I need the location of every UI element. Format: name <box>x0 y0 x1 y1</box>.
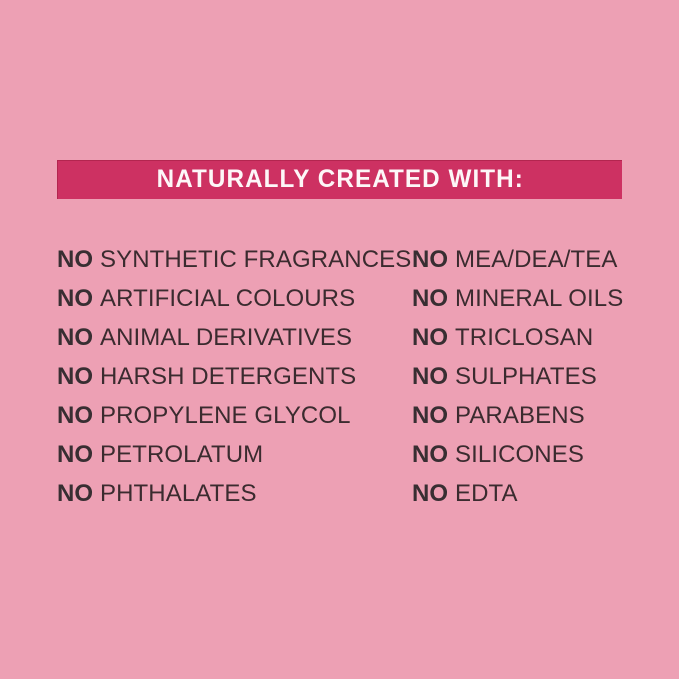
no-prefix: NO <box>412 287 448 311</box>
ingredient-label: SILICONES <box>455 443 584 467</box>
no-prefix: NO <box>412 443 448 467</box>
no-prefix: NO <box>57 482 93 506</box>
ingredients-column-left: NO SYNTHETIC FRAGRANCES NO ARTIFICIAL CO… <box>57 240 412 513</box>
ingredient-label: TRICLOSAN <box>455 326 593 350</box>
ingredient-label: PHTHALATES <box>100 482 257 506</box>
ingredient-label: MINERAL OILS <box>455 287 623 311</box>
no-prefix: NO <box>412 326 448 350</box>
ingredients-column-right: NO MEA/DEA/TEA NO MINERAL OILS NO TRICLO… <box>412 240 627 513</box>
list-item: NO ANIMAL DERIVATIVES <box>57 318 412 357</box>
no-prefix: NO <box>57 326 93 350</box>
ingredient-label: PETROLATUM <box>100 443 263 467</box>
ingredient-label: ANIMAL DERIVATIVES <box>100 326 352 350</box>
list-item: NO HARSH DETERGENTS <box>57 357 412 396</box>
no-prefix: NO <box>412 482 448 506</box>
no-prefix: NO <box>57 404 93 428</box>
ingredient-label: MEA/DEA/TEA <box>455 248 617 272</box>
no-prefix: NO <box>412 404 448 428</box>
ingredient-label: SYNTHETIC FRAGRANCES <box>100 248 411 272</box>
list-item: NO PHTHALATES <box>57 474 412 513</box>
no-prefix: NO <box>57 443 93 467</box>
ingredient-label: PARABENS <box>455 404 585 428</box>
list-item: NO PROPYLENE GLYCOL <box>57 396 412 435</box>
list-item: NO SULPHATES <box>412 357 627 396</box>
no-prefix: NO <box>412 365 448 389</box>
no-prefix: NO <box>412 248 448 272</box>
list-item: NO EDTA <box>412 474 627 513</box>
list-item: NO TRICLOSAN <box>412 318 627 357</box>
ingredient-label: ARTIFICIAL COLOURS <box>100 287 355 311</box>
list-item: NO MINERAL OILS <box>412 279 627 318</box>
list-item: NO PETROLATUM <box>57 435 412 474</box>
list-item: NO ARTIFICIAL COLOURS <box>57 279 412 318</box>
list-item: NO SILICONES <box>412 435 627 474</box>
banner-title: NATURALLY CREATED WITH: <box>156 167 523 193</box>
list-item: NO SYNTHETIC FRAGRANCES <box>57 240 412 279</box>
free-from-ingredients-list: NO SYNTHETIC FRAGRANCES NO ARTIFICIAL CO… <box>57 240 627 513</box>
ingredient-label: EDTA <box>455 482 518 506</box>
list-item: NO MEA/DEA/TEA <box>412 240 627 279</box>
product-claims-poster: NATURALLY CREATED WITH: NO SYNTHETIC FRA… <box>0 0 679 679</box>
no-prefix: NO <box>57 248 93 272</box>
no-prefix: NO <box>57 287 93 311</box>
no-prefix: NO <box>57 365 93 389</box>
ingredient-label: SULPHATES <box>455 365 597 389</box>
ingredient-label: PROPYLENE GLYCOL <box>100 404 351 428</box>
banner-naturally-created-with: NATURALLY CREATED WITH: <box>57 160 622 199</box>
list-item: NO PARABENS <box>412 396 627 435</box>
ingredient-label: HARSH DETERGENTS <box>100 365 356 389</box>
